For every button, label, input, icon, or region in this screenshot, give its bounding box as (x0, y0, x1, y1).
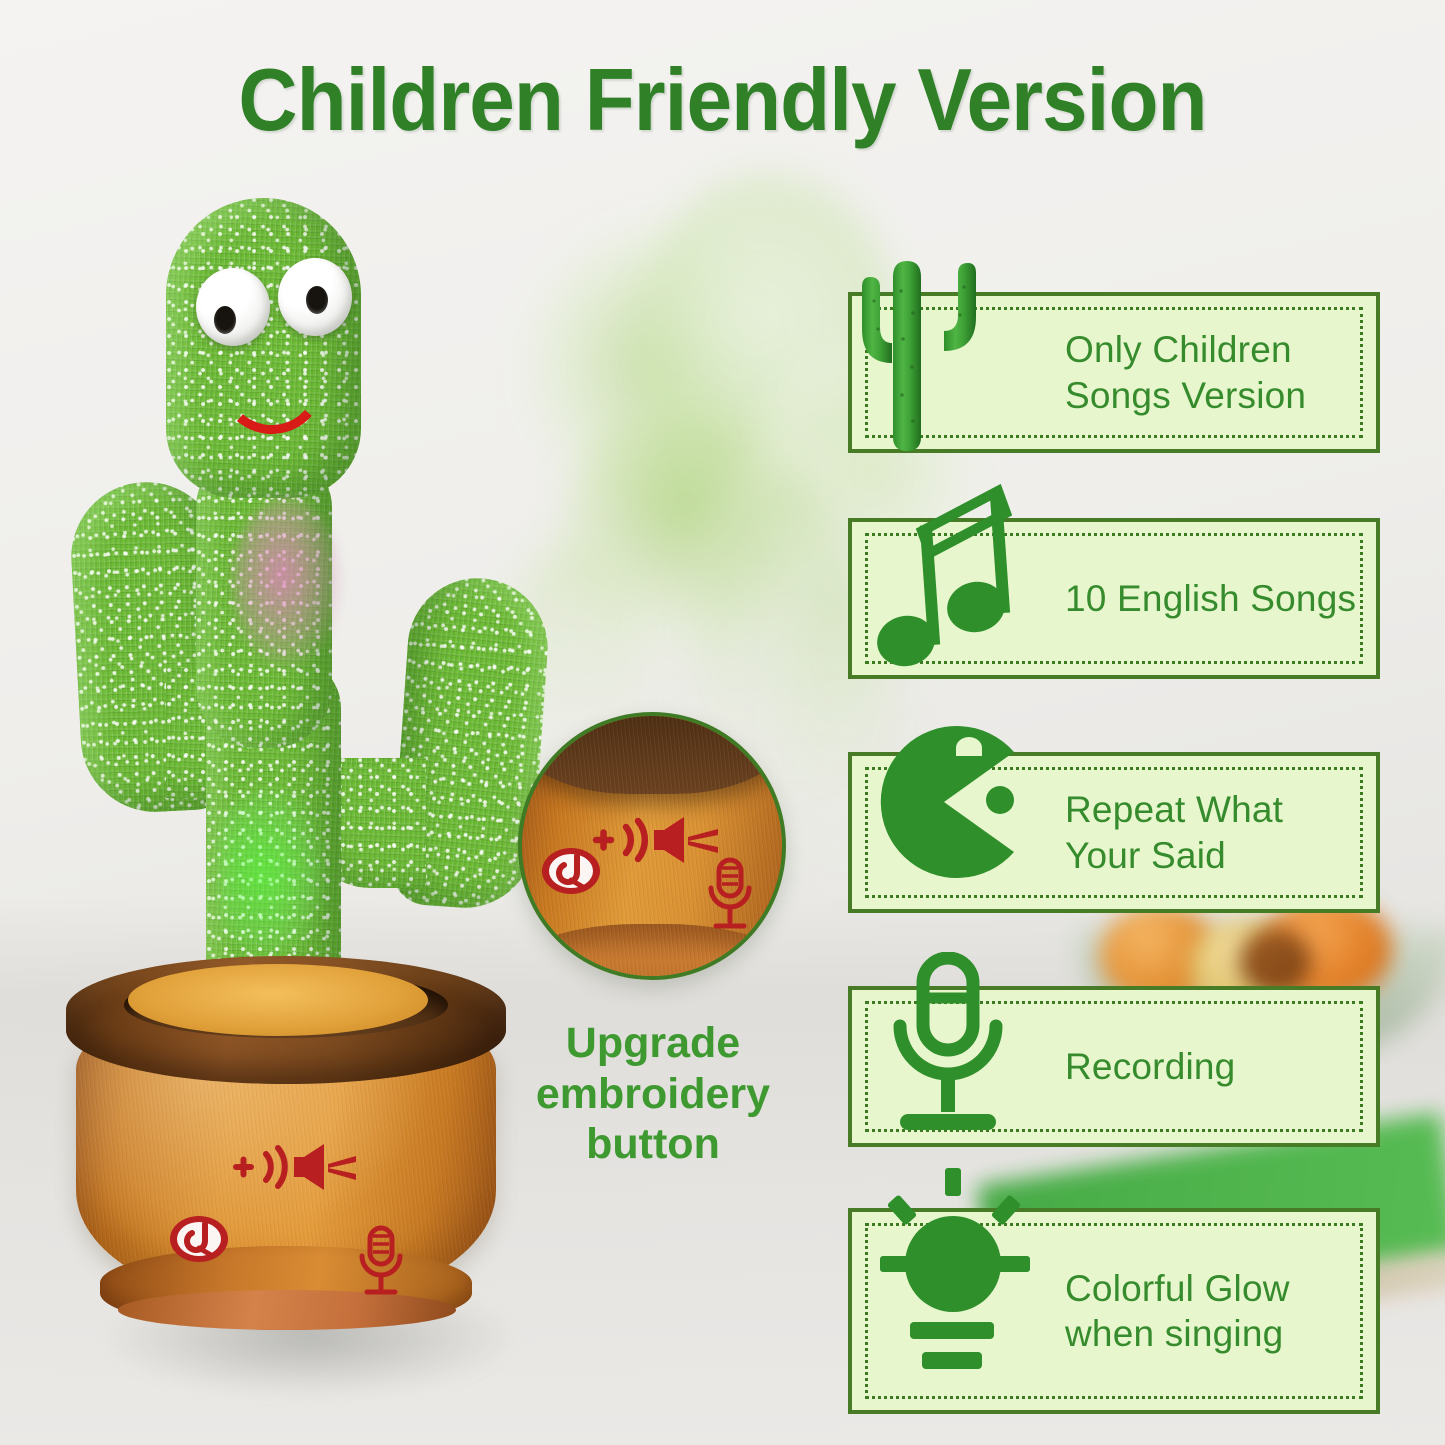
feature-label: Colorful Glow when singing (1065, 1266, 1290, 1356)
cactus-pink-patch (232, 498, 342, 668)
microphone-embroidery-icon (702, 856, 758, 932)
background-dark-fruit (1240, 930, 1310, 994)
feature-label: Only Children Songs Version (1065, 327, 1306, 417)
cactus-left-eye (196, 268, 270, 346)
page-title: Children Friendly Version (51, 56, 1395, 144)
feature-box-only-children-songs: Only Children Songs Version (848, 292, 1380, 453)
feature-box-colorful-glow: Colorful Glow when singing (848, 1208, 1380, 1414)
cactus-left-pupil (214, 306, 236, 334)
feature-label: Recording (1065, 1044, 1235, 1089)
callout-caption: Upgrade embroidery button (510, 1018, 796, 1170)
feature-box-recording: Recording (848, 986, 1380, 1147)
cactus-green-glow (220, 788, 325, 958)
pot-soil (128, 964, 428, 1036)
product-photo-cactus-plush (56, 198, 556, 1428)
feature-label: Repeat What Your Said (1065, 787, 1283, 877)
power-repeat-embroidery-icon (168, 1208, 230, 1270)
microphone-embroidery-icon (354, 1224, 408, 1298)
feature-box-repeat-speech: Repeat What Your Said (848, 752, 1380, 913)
power-repeat-embroidery-icon (540, 840, 602, 902)
feature-box-english-songs: 10 English Songs (848, 518, 1380, 679)
feature-label: 10 English Songs (1065, 576, 1356, 621)
cactus-head (166, 198, 361, 498)
volume-speaker-embroidery-icon (232, 1140, 362, 1194)
magnifier-callout-embroidery-buttons (518, 712, 786, 980)
infographic-canvas: Children Friendly Version (0, 0, 1445, 1445)
cactus-right-pupil (306, 286, 328, 314)
